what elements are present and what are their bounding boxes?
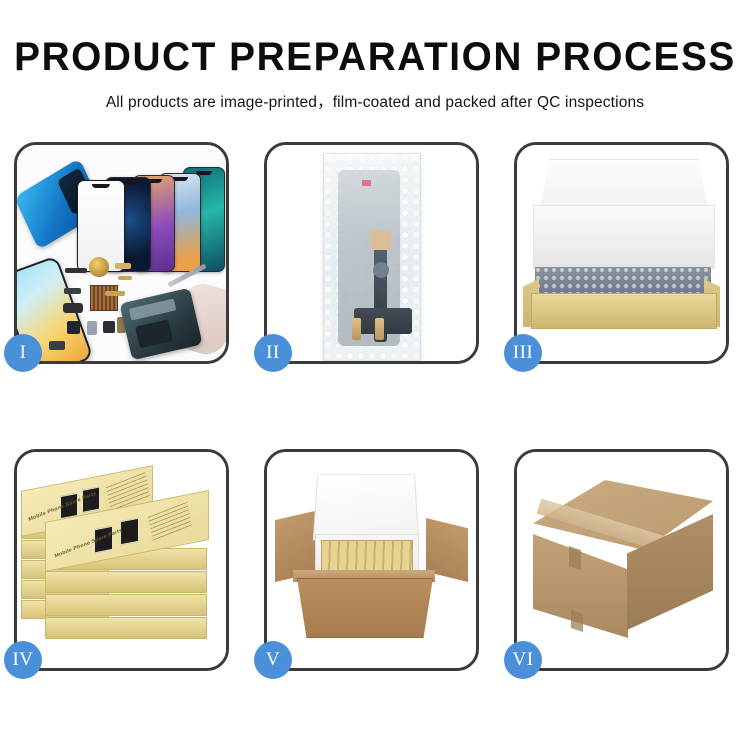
step-numeral: III (513, 342, 533, 364)
part-strip (65, 268, 87, 273)
step-badge-4: IV (4, 641, 42, 679)
process-step-6: VI (500, 445, 750, 677)
part-camera-module (67, 321, 80, 334)
step-badge-3: III (504, 334, 542, 372)
step-numeral: II (266, 342, 280, 364)
part-speaker (63, 303, 83, 313)
box-front-gold (531, 293, 717, 329)
process-step-4: Mobile Phone Spare Parts Mobile Phone Sp… (0, 445, 250, 677)
step-card-1[interactable] (14, 142, 229, 364)
step-numeral: IV (12, 649, 33, 671)
box-spec-lines (148, 502, 192, 542)
step-badge-5: V (254, 641, 292, 679)
step-image-spare-parts-overview (17, 145, 226, 361)
part-button (64, 288, 81, 294)
coil-part-icon (89, 257, 109, 277)
step-card-6[interactable] (514, 449, 729, 671)
styrofoam-lid (313, 474, 419, 540)
step-card-3[interactable] (514, 142, 729, 364)
part-antenna (105, 291, 125, 296)
foam-sheet (533, 205, 715, 269)
process-step-2: II (250, 138, 500, 370)
phone-fan-group (75, 157, 225, 272)
bag-seal (324, 154, 420, 166)
process-steps-grid: I II (0, 138, 750, 677)
pink-label-tab (362, 180, 371, 186)
bubble-wrap-bag (323, 153, 421, 361)
step-card-4[interactable]: Mobile Phone Spare Parts Mobile Phone Sp… (14, 449, 229, 671)
chip-grid-part (90, 285, 118, 311)
carton-seam-upper (569, 546, 581, 570)
step-badge-6: VI (504, 641, 542, 679)
retail-box (45, 617, 207, 639)
process-step-1: I (0, 138, 250, 370)
part-gold-flex (118, 276, 132, 280)
step-badge-1: I (4, 334, 42, 372)
box-thumbnail (120, 518, 139, 546)
step-numeral: I (20, 342, 27, 364)
process-step-3: III (500, 138, 750, 370)
page-header: PRODUCT PREPARATION PROCESS All products… (0, 0, 750, 112)
process-step-5: V (250, 445, 500, 677)
screen-assembly (338, 170, 400, 346)
page-subtitle: All products are image-printed，film-coat… (0, 90, 750, 112)
retail-box (45, 571, 207, 593)
part-misc (49, 341, 65, 350)
step-card-5[interactable] (264, 449, 479, 671)
step-numeral: VI (512, 649, 533, 671)
carton-seam-lower (571, 610, 583, 632)
step-image-carton-loading (267, 452, 476, 668)
part-sim-tray (87, 321, 97, 335)
step-image-retail-box-stacking: Mobile Phone Spare Parts Mobile Phone Sp… (17, 452, 226, 668)
step-image-sealed-carton (517, 452, 726, 668)
connector-gold-left (352, 318, 361, 340)
step-card-2[interactable] (264, 142, 479, 364)
part-gold-connector (115, 263, 131, 269)
step-image-inner-box-packing (517, 145, 726, 361)
bubble-filler (535, 267, 711, 295)
connector-gold-right (375, 318, 384, 340)
retail-box (45, 594, 207, 616)
step-badge-2: II (254, 334, 292, 372)
carton-front (297, 578, 433, 638)
step-image-bubble-wrapping (267, 145, 476, 361)
part-vibrator (103, 321, 115, 333)
page-title: PRODUCT PREPARATION PROCESS (11, 36, 739, 78)
step-numeral: V (266, 649, 280, 671)
